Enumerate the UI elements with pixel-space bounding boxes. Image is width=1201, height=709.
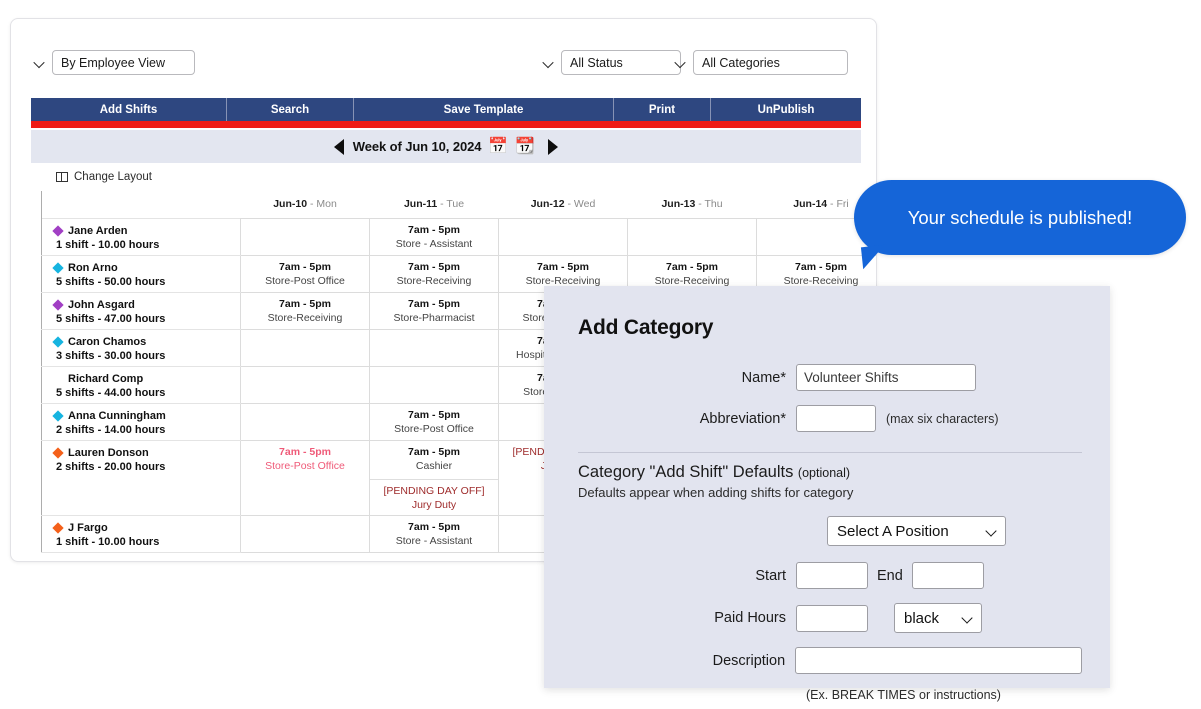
employee-shift-summary: 2 shifts - 20.00 hours: [52, 461, 240, 473]
modal-divider: [578, 452, 1082, 453]
schedule-cell[interactable]: 7am - 5pmStore-Pharmacist: [370, 292, 499, 329]
add-shifts-button[interactable]: Add Shifts: [31, 98, 227, 121]
shift-position: Store-Post Office: [372, 423, 496, 435]
day-column-header-jun-12: Jun-12 - Wed: [499, 191, 628, 218]
shift-time: [PENDING DAY OFF]: [372, 485, 496, 497]
employee-shift-summary: 5 shifts - 44.00 hours: [52, 387, 240, 399]
shift-position: Store - Assistant: [372, 238, 496, 250]
shift-time: 7am - 5pm: [243, 446, 367, 458]
employee-status-diamond-icon: [52, 373, 63, 384]
accent-divider: [31, 121, 861, 128]
day-column-header-jun-10: Jun-10 - Mon: [241, 191, 370, 218]
change-layout-label: Change Layout: [74, 171, 152, 183]
shift-time: 7am - 5pm: [372, 298, 496, 310]
employee-column-header: [42, 191, 241, 218]
schedule-cell[interactable]: [241, 366, 370, 403]
shift-entry[interactable]: 7am - 5pmStore-Pharmacist: [370, 293, 498, 328]
employee-name: Anna Cunningham: [68, 410, 166, 422]
day-weekday: - Tue: [437, 198, 464, 210]
shift-time: 7am - 5pm: [372, 521, 496, 533]
day-weekday: - Fri: [827, 198, 849, 210]
published-tooltip: Your schedule is published!: [854, 180, 1186, 255]
employee-name: Caron Chamos: [68, 336, 146, 348]
previous-week-arrow-icon[interactable]: [334, 139, 344, 155]
employee-status-diamond-icon: [52, 262, 63, 273]
search-button[interactable]: Search: [227, 98, 354, 121]
abbreviation-hint: (max six characters): [886, 412, 999, 426]
shift-time: 7am - 5pm: [630, 261, 754, 273]
abbreviation-label: Abbreviation*: [578, 411, 796, 427]
week-navigation: Week of Jun 10, 2024 📅 📆: [31, 130, 861, 163]
schedule-cell[interactable]: [241, 329, 370, 366]
change-layout-button[interactable]: Change Layout: [56, 171, 152, 183]
abbreviation-row: Abbreviation* (max six characters): [578, 405, 1082, 432]
shift-time: 7am - 5pm: [243, 298, 367, 310]
shift-position: Store-Receiving: [630, 275, 754, 287]
shift-time: 7am - 5pm: [243, 261, 367, 273]
shift-entry[interactable]: 7am - 5pmStore-Receiving: [241, 293, 369, 328]
schedule-cell[interactable]: [241, 515, 370, 552]
employee-cell[interactable]: Caron Chamos3 shifts - 30.00 hours: [42, 329, 241, 366]
employee-status-diamond-icon: [52, 225, 63, 236]
schedule-cell[interactable]: 7am - 5pmStore-Receiving: [370, 255, 499, 292]
tooltip-tail: [861, 245, 887, 269]
end-input[interactable]: [912, 562, 984, 589]
description-hint: (Ex. BREAK TIMES or instructions): [806, 688, 1082, 702]
employee-cell[interactable]: Lauren Donson2 shifts - 20.00 hours: [42, 440, 241, 515]
schedule-cell[interactable]: [241, 218, 370, 255]
schedule-cell[interactable]: 7am - 5pmStore-Post Office: [370, 403, 499, 440]
paid-hours-input[interactable]: [796, 605, 868, 632]
shift-position: Store-Post Office: [243, 275, 367, 287]
status-select[interactable]: All Status: [561, 50, 681, 75]
schedule-cell[interactable]: [628, 218, 757, 255]
schedule-cell[interactable]: 7am - 5pmCashier[PENDING DAY OFF]Jury Du…: [370, 440, 499, 515]
defaults-section-title-text: Category "Add Shift" Defaults: [578, 463, 793, 481]
day-weekday: - Wed: [565, 198, 596, 210]
day-column-header-jun-13: Jun-13 - Thu: [628, 191, 757, 218]
employee-cell[interactable]: Anna Cunningham2 shifts - 14.00 hours: [42, 403, 241, 440]
week-label: Week of Jun 10, 2024: [353, 139, 482, 154]
shift-time: 7am - 5pm: [501, 261, 625, 273]
employee-shift-summary: 5 shifts - 47.00 hours: [52, 313, 240, 325]
shift-time: 7am - 5pm: [372, 409, 496, 421]
employee-name: Ron Arno: [68, 262, 118, 274]
shift-entry[interactable]: 7am - 5pmStore-Post Office: [241, 256, 369, 291]
shift-position: Cashier: [372, 460, 496, 472]
employee-cell[interactable]: Jane Arden1 shift - 10.00 hours: [42, 218, 241, 255]
description-row: Description: [578, 647, 1082, 674]
shift-position: Store-Receiving: [372, 275, 496, 287]
defaults-section-subtitle: Defaults appear when adding shifts for c…: [578, 485, 1082, 500]
schedule-cell[interactable]: [241, 403, 370, 440]
employee-cell[interactable]: Ron Arno5 shifts - 50.00 hours: [42, 255, 241, 292]
shift-entry[interactable]: 7am - 5pmStore - Assistant: [370, 219, 498, 254]
filter-bar: By Employee View All Status All Categori…: [11, 19, 876, 63]
next-week-arrow-icon[interactable]: [548, 139, 558, 155]
end-label: End: [868, 568, 912, 584]
paid-hours-label: Paid Hours: [578, 610, 796, 626]
color-select[interactable]: black: [894, 603, 982, 633]
schedule-cell[interactable]: 7am - 5pmStore - Assistant: [370, 515, 499, 552]
employee-status-diamond-icon: [52, 336, 63, 347]
day-date: Jun-11: [404, 198, 437, 210]
employee-cell[interactable]: John Asgard5 shifts - 47.00 hours: [42, 292, 241, 329]
categories-select[interactable]: All Categories: [693, 50, 848, 75]
shift-time: 7am - 5pm: [372, 261, 496, 273]
day-date: Jun-13: [661, 198, 695, 210]
employee-shift-summary: 3 shifts - 30.00 hours: [52, 350, 240, 362]
start-label: Start: [578, 568, 796, 584]
day-weekday: - Mon: [307, 198, 337, 210]
day-date: Jun-12: [531, 198, 565, 210]
day-column-header-jun-11: Jun-11 - Tue: [370, 191, 499, 218]
defaults-section-title: Category "Add Shift" Defaults (optional): [578, 463, 1082, 482]
day-date: Jun-14: [793, 198, 827, 210]
screen: By Employee View All Status All Categori…: [0, 0, 1201, 709]
name-input[interactable]: [796, 364, 976, 391]
employee-shift-summary: 2 shifts - 14.00 hours: [52, 424, 240, 436]
position-select[interactable]: Select A Position: [827, 516, 1006, 546]
paid-hours-row: Paid Hours black: [578, 603, 1082, 633]
save-template-button[interactable]: Save Template: [354, 98, 614, 121]
employee-shift-summary: 5 shifts - 50.00 hours: [52, 276, 240, 288]
add-category-modal: Add Category Name* Abbreviation* (max si…: [544, 286, 1110, 688]
start-end-row: Start End: [578, 562, 1082, 589]
employee-status-diamond-icon: [52, 410, 63, 421]
schedule-cell[interactable]: 7am - 5pmStore-Post Office: [241, 440, 370, 515]
schedule-cell[interactable]: 7am - 5pmStore-Receiving: [241, 292, 370, 329]
description-input[interactable]: [795, 647, 1082, 674]
shift-entry[interactable]: 7am - 5pmStore-Receiving: [370, 256, 498, 291]
shift-entry[interactable]: 7am - 5pmCashier: [370, 441, 498, 476]
color-select-wrapper: black: [894, 603, 982, 633]
defaults-optional-label: (optional): [798, 466, 850, 480]
employee-status-diamond-icon: [52, 522, 63, 533]
description-label: Description: [578, 653, 795, 669]
employee-status-diamond-icon: [52, 299, 63, 310]
schedule-cell[interactable]: 7am - 5pmStore - Assistant: [370, 218, 499, 255]
name-label: Name*: [578, 370, 796, 386]
employee-cell[interactable]: J Fargo1 shift - 10.00 hours: [42, 515, 241, 552]
action-toolbar: Add Shifts Search Save Template Print Un…: [31, 98, 861, 121]
shift-time: 7am - 5pm: [759, 261, 877, 273]
position-row: Select A Position: [578, 516, 1082, 546]
shift-position: Jury Duty: [372, 499, 496, 511]
schedule-cell[interactable]: [370, 329, 499, 366]
shift-position: Store-Receiving: [759, 275, 877, 287]
shift-position: Store-Receiving: [501, 275, 625, 287]
employee-status-diamond-icon: [52, 447, 63, 458]
employee-cell[interactable]: Richard Comp5 shifts - 44.00 hours: [42, 366, 241, 403]
employee-shift-summary: 1 shift - 10.00 hours: [52, 239, 240, 251]
shift-entry[interactable]: 7am - 5pmStore-Post Office: [241, 441, 369, 476]
columns-icon: [56, 172, 68, 182]
employee-name: Richard Comp: [68, 373, 143, 385]
employee-name: John Asgard: [68, 299, 135, 311]
shift-time: 7am - 5pm: [372, 446, 496, 458]
published-tooltip-text: Your schedule is published!: [908, 207, 1133, 229]
shift-time: 7am - 5pm: [372, 224, 496, 236]
employee-name: Lauren Donson: [68, 447, 149, 459]
shift-entry[interactable]: [PENDING DAY OFF]Jury Duty: [370, 479, 498, 515]
calendar-icon[interactable]: 📆: [515, 139, 535, 155]
day-weekday: - Thu: [695, 198, 722, 210]
employee-name: J Fargo: [68, 522, 108, 534]
day-date: Jun-10: [273, 198, 307, 210]
view-select[interactable]: By Employee View: [52, 50, 195, 75]
shift-position: Store-Post Office: [243, 460, 367, 472]
employee-shift-summary: 1 shift - 10.00 hours: [52, 536, 240, 548]
start-input[interactable]: [796, 562, 868, 589]
shift-position: Store - Assistant: [372, 535, 496, 547]
shift-position: Store-Pharmacist: [372, 312, 496, 324]
name-row: Name*: [578, 364, 1082, 391]
shift-entry[interactable]: 7am - 5pmStore - Assistant: [370, 516, 498, 551]
shift-entry[interactable]: 7am - 5pmStore-Post Office: [370, 404, 498, 439]
schedule-cell[interactable]: [370, 366, 499, 403]
shift-position: Store-Receiving: [243, 312, 367, 324]
unpublish-button[interactable]: UnPublish: [711, 98, 861, 121]
position-select-wrapper: Select A Position: [827, 516, 1006, 546]
schedule-cell[interactable]: 7am - 5pmStore-Post Office: [241, 255, 370, 292]
print-button[interactable]: Print: [614, 98, 711, 121]
modal-title: Add Category: [578, 316, 1082, 340]
schedule-cell[interactable]: [499, 218, 628, 255]
calendar-check-icon[interactable]: 📅: [488, 139, 508, 155]
schedule-row: Jane Arden1 shift - 10.00 hours7am - 5pm…: [42, 218, 878, 255]
employee-name: Jane Arden: [68, 225, 128, 237]
abbreviation-input[interactable]: [796, 405, 876, 432]
